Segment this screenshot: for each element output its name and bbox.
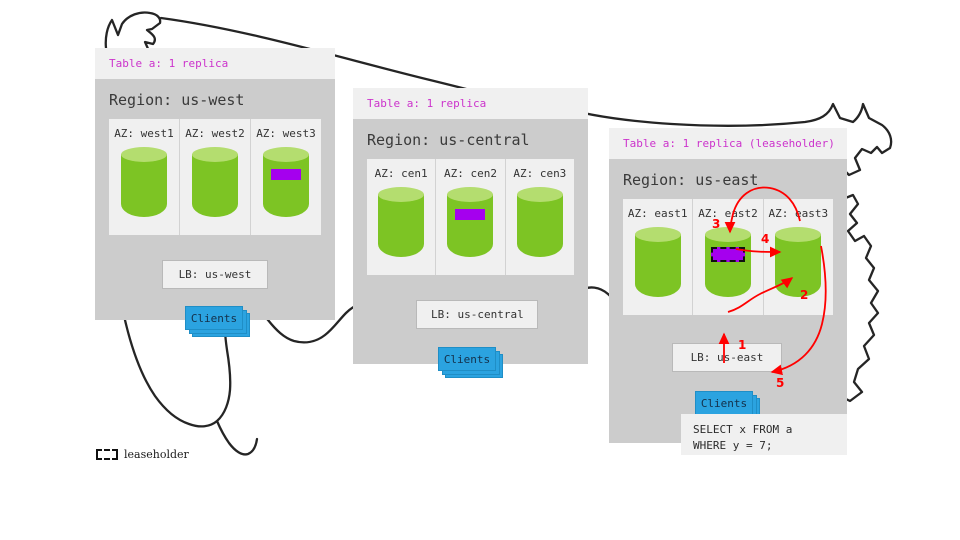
region-panel-us-central: Table a: 1 replica Region: us-central AZ… — [353, 88, 588, 364]
az-label: AZ: east1 — [623, 207, 692, 220]
range-replica-bar — [271, 169, 301, 180]
legend-label: leaseholder — [124, 448, 189, 461]
region-title: Region: us-west — [95, 79, 335, 119]
az-label: AZ: cen3 — [506, 167, 574, 180]
az-label: AZ: cen2 — [436, 167, 504, 180]
clients-stack-us-central[interactable]: Clients — [438, 347, 496, 371]
node-cylinder-west2[interactable] — [192, 147, 238, 211]
flow-step-number-1: 1 — [738, 338, 746, 352]
sql-query-box: SELECT x FROM a WHERE y = 7; — [681, 414, 847, 455]
region-title: Region: us-east — [609, 159, 847, 199]
az-cell-east1[interactable]: AZ: east1 — [623, 199, 692, 315]
clients-label: Clients — [185, 306, 243, 330]
az-cell-east3[interactable]: AZ: east3 — [763, 199, 833, 315]
region-title: Region: us-central — [353, 119, 588, 159]
az-label: AZ: cen1 — [367, 167, 435, 180]
region-header-label: Table a: 1 replica (leaseholder) — [609, 128, 847, 159]
node-cylinder-east2[interactable] — [705, 227, 751, 291]
flow-step-number-5: 5 — [776, 376, 784, 390]
range-replica-bar — [455, 209, 485, 220]
clients-stack-us-east[interactable]: Clients — [695, 391, 753, 415]
az-label: AZ: east2 — [693, 207, 762, 220]
node-cylinder-cen1[interactable] — [378, 187, 424, 251]
legend: leaseholder — [96, 448, 189, 461]
az-cell-west2[interactable]: AZ: west2 — [179, 119, 250, 235]
node-cylinder-west3[interactable] — [263, 147, 309, 211]
flow-step-number-2: 2 — [800, 288, 808, 302]
load-balancer-us-east[interactable]: LB: us-east — [672, 343, 782, 372]
az-cell-cen1[interactable]: AZ: cen1 — [367, 159, 435, 275]
az-cell-west1[interactable]: AZ: west1 — [109, 119, 179, 235]
az-label: AZ: west3 — [251, 127, 321, 140]
load-balancer-us-west[interactable]: LB: us-west — [162, 260, 268, 289]
region-panel-us-west: Table a: 1 replica Region: us-west AZ: w… — [95, 48, 335, 320]
node-cylinder-cen3[interactable] — [517, 187, 563, 251]
clients-label: Clients — [695, 391, 753, 415]
node-cylinder-west1[interactable] — [121, 147, 167, 211]
az-row: AZ: cen1 AZ: cen2 AZ: cen3 — [367, 159, 574, 275]
az-cell-west3[interactable]: AZ: west3 — [250, 119, 321, 235]
clients-stack-us-west[interactable]: Clients — [185, 306, 243, 330]
diagram-canvas: Table a: 1 replica Region: us-west AZ: w… — [0, 0, 960, 540]
region-header-label: Table a: 1 replica — [353, 88, 588, 119]
node-cylinder-east1[interactable] — [635, 227, 681, 291]
az-cell-east2[interactable]: AZ: east2 — [692, 199, 762, 315]
dashed-rectangle-icon — [96, 449, 118, 460]
node-cylinder-east3[interactable] — [775, 227, 821, 291]
load-balancer-us-central[interactable]: LB: us-central — [416, 300, 538, 329]
node-cylinder-cen2[interactable] — [447, 187, 493, 251]
az-label: AZ: west1 — [109, 127, 179, 140]
az-label: AZ: west2 — [180, 127, 250, 140]
clients-label: Clients — [438, 347, 496, 371]
az-row: AZ: west1 AZ: west2 AZ: west3 — [109, 119, 321, 235]
region-panel-us-east: Table a: 1 replica (leaseholder) Region:… — [609, 128, 847, 443]
az-cell-cen2[interactable]: AZ: cen2 — [435, 159, 504, 275]
flow-step-number-3: 3 — [712, 217, 720, 231]
region-header-label: Table a: 1 replica — [95, 48, 335, 79]
range-leaseholder-bar — [711, 247, 745, 262]
az-label: AZ: east3 — [764, 207, 833, 220]
flow-step-number-4: 4 — [761, 232, 769, 246]
az-cell-cen3[interactable]: AZ: cen3 — [505, 159, 574, 275]
